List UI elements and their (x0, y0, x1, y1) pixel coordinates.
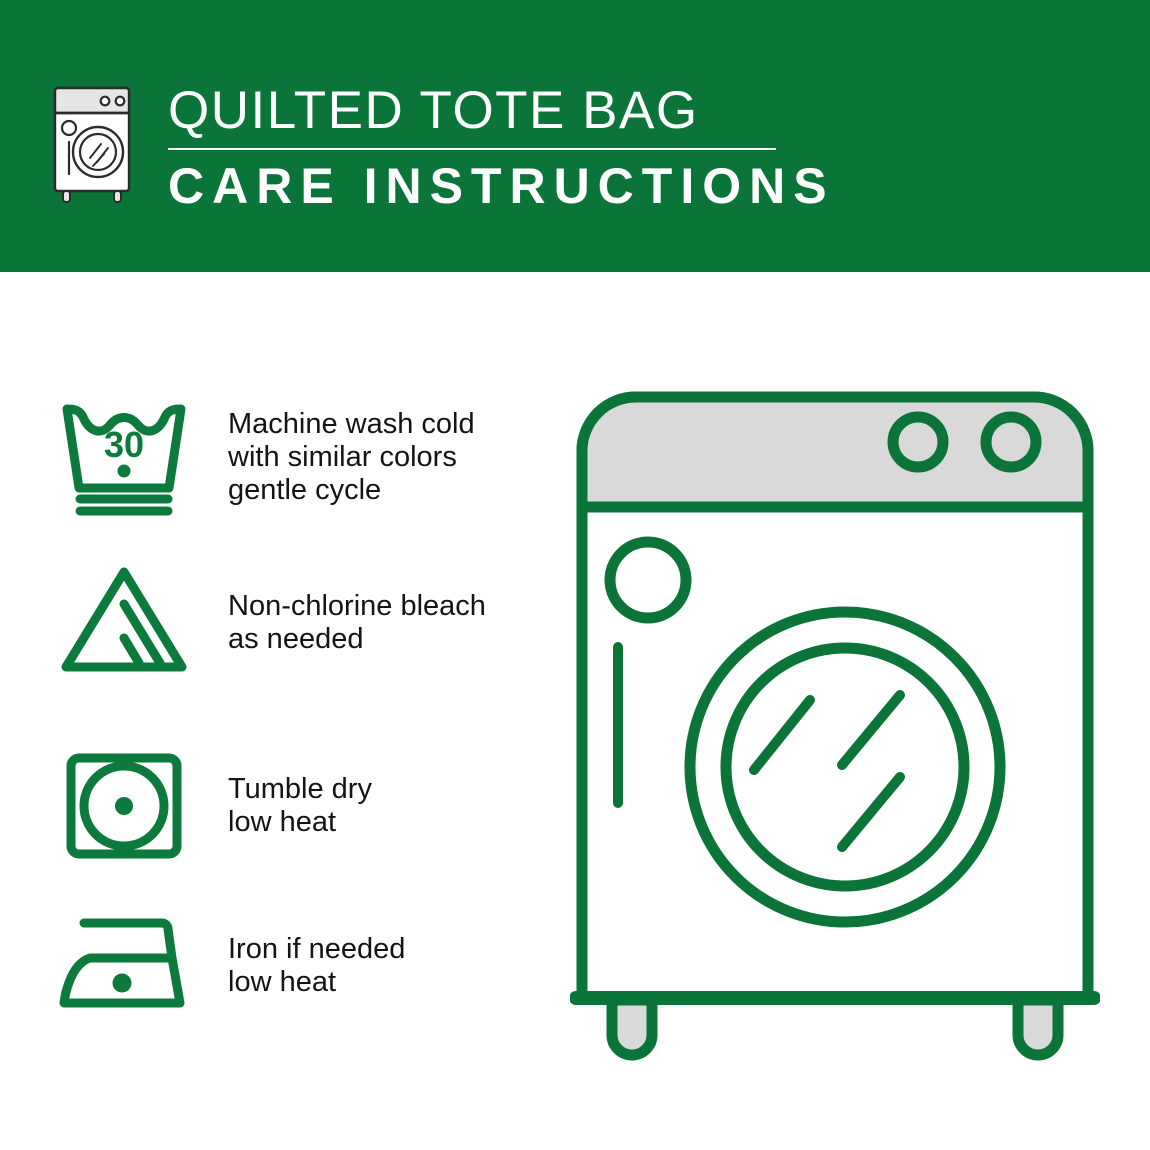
tumble-dry-icon (50, 743, 198, 868)
iron-icon (50, 903, 198, 1028)
page-subtitle: CARE INSTRUCTIONS (168, 156, 788, 216)
bleach-triangle-icon (50, 560, 198, 685)
care-row-dry: Tumble dry low heat (50, 743, 372, 868)
care-row-bleach: Non-chlorine bleach as needed (50, 560, 486, 685)
svg-text:30: 30 (104, 424, 144, 465)
care-row-wash: 30 Machine wash cold with similar colors… (50, 395, 475, 520)
care-label-bleach: Non-chlorine bleach as needed (228, 590, 486, 656)
care-label-iron: Iron if needed low heat (228, 933, 405, 999)
page-title: QUILTED TOTE BAG (168, 80, 788, 142)
washing-machine-icon (48, 78, 144, 204)
title-divider (168, 148, 776, 150)
header-band: QUILTED TOTE BAG CARE INSTRUCTIONS (0, 0, 1150, 272)
care-row-iron: Iron if needed low heat (50, 903, 405, 1028)
front-load-washing-machine-illustration (570, 385, 1100, 1075)
care-label-wash: Machine wash cold with similar colors ge… (228, 408, 475, 507)
header-text-block: QUILTED TOTE BAG CARE INSTRUCTIONS (168, 80, 788, 216)
care-instructions-infographic: QUILTED TOTE BAG CARE INSTRUCTIONS 30 Ma… (0, 0, 1150, 1150)
wash-basin-icon: 30 (50, 395, 198, 520)
care-label-dry: Tumble dry low heat (228, 773, 372, 839)
